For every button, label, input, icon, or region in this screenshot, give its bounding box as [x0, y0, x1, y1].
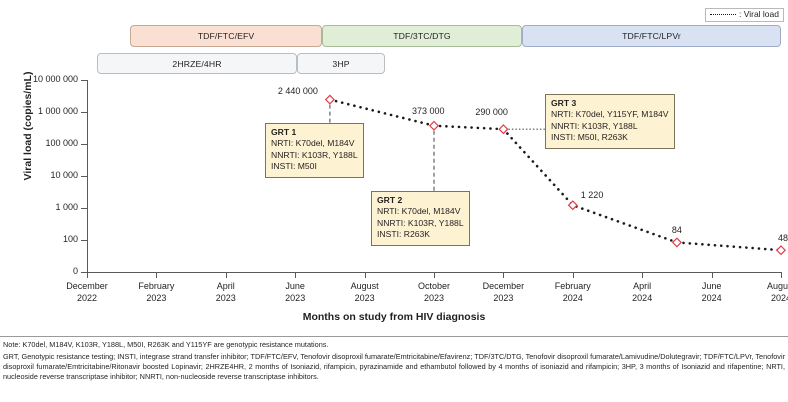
y-tick-label-4: 1 000: [0, 202, 78, 212]
annotation-grt-1: GRT 1 NRTI: K70del, M184V NNRTI: K103R, …: [265, 123, 364, 178]
grt-3-line-3: INSTI: M50I, R263K: [551, 132, 669, 143]
data-point-marker-3: [569, 201, 577, 209]
x-tick-label-8: April2024: [606, 281, 678, 304]
footnote-divider: [0, 336, 788, 337]
x-tick-6: [503, 272, 504, 278]
y-tick-3: [81, 176, 87, 177]
data-point-label-0: 2 440 000: [278, 86, 318, 96]
x-tick-label-3: June2023: [259, 281, 331, 304]
y-axis-title: Viral load (copies/mL): [22, 36, 34, 216]
grt-3-title: GRT 3: [551, 98, 669, 109]
y-tick-label-5: 100: [0, 234, 78, 244]
legend-label-viral-load: : Viral load: [739, 10, 779, 19]
x-tick-0: [87, 272, 88, 278]
art-regimen-label-1: TDF/FTC/EFV: [198, 31, 255, 41]
tb-regimen-label-2: 3HP: [332, 59, 349, 69]
x-tick-label-0: December2022: [51, 281, 123, 304]
y-tick-label-6: 0: [0, 266, 78, 276]
x-tick-label-7: February2024: [537, 281, 609, 304]
y-tick-4: [81, 208, 87, 209]
x-axis-title: Months on study from HIV diagnosis: [0, 311, 788, 323]
y-tick-0: [81, 80, 87, 81]
footnote-note: Note: K70del, M184V, K103R, Y188L, M50I,…: [3, 340, 785, 350]
art-regimen-label-3: TDF/FTC/LPVr: [622, 31, 681, 41]
data-point-label-2: 290 000: [475, 107, 508, 117]
y-tick-label-3: 10 000: [0, 170, 78, 180]
x-tick-1: [156, 272, 157, 278]
data-point-marker-1: [430, 122, 438, 130]
grt-3-line-2: NNRTI: K103R, Y188L: [551, 121, 669, 132]
grt-2-line-2: NNRTI: K103R, Y188L: [377, 218, 464, 229]
x-tick-10: [781, 272, 782, 278]
x-tick-label-10: August2024: [745, 281, 788, 304]
tb-regimen-bar-3hp: 3HP: [297, 53, 385, 74]
data-point-label-1: 373 000: [412, 106, 445, 116]
y-tick-label-1: 1 000 000: [0, 106, 78, 116]
x-tick-label-6: December2023: [467, 281, 539, 304]
grt-1-line-2: NNRTI: K103R, Y188L: [271, 150, 358, 161]
x-tick-label-4: August2023: [329, 281, 401, 304]
x-tick-4: [365, 272, 366, 278]
annotation-grt-3: GRT 3 NRTI: K70del, Y115YF, M184V NNRTI:…: [545, 94, 675, 149]
data-point-label-5: 48: [778, 233, 788, 243]
footnote-abbreviations: GRT, Genotypic resistance testing; INSTI…: [3, 352, 785, 382]
chart-legend: : Viral load: [705, 8, 784, 22]
x-tick-label-5: October2023: [398, 281, 470, 304]
y-axis-line: [87, 80, 88, 272]
x-tick-label-1: February2023: [120, 281, 192, 304]
y-tick-1: [81, 112, 87, 113]
art-regimen-bar-tdf-ftc-lpvr: TDF/FTC/LPVr: [522, 25, 781, 47]
x-tick-5: [434, 272, 435, 278]
y-tick-label-2: 100 000: [0, 138, 78, 148]
x-tick-2: [226, 272, 227, 278]
grt-1-line-3: INSTI: M50I: [271, 161, 358, 172]
art-regimen-bar-tdf-ftc-efv: TDF/FTC/EFV: [130, 25, 322, 47]
grt-2-title: GRT 2: [377, 195, 464, 206]
data-point-label-4: 84: [672, 225, 682, 235]
x-tick-label-9: June2024: [676, 281, 748, 304]
x-tick-8: [642, 272, 643, 278]
y-tick-2: [81, 144, 87, 145]
grt-2-line-1: NRTI: K70del, M184V: [377, 206, 464, 217]
y-tick-5: [81, 240, 87, 241]
data-point-label-3: 1 220: [581, 190, 604, 200]
tb-regimen-bar-2hrze-4hr: 2HRZE/4HR: [97, 53, 297, 74]
grt-1-line-1: NRTI: K70del, M184V: [271, 138, 358, 149]
grt-1-title: GRT 1: [271, 127, 358, 138]
art-regimen-bar-tdf-3tc-dtg: TDF/3TC/DTG: [322, 25, 522, 47]
data-point-marker-0: [326, 95, 334, 103]
footnotes: Note: K70del, M184V, K103R, Y188L, M50I,…: [3, 340, 785, 382]
grt-2-line-3: INSTI: R263K: [377, 229, 464, 240]
data-point-marker-4: [673, 238, 681, 246]
art-regimen-label-2: TDF/3TC/DTG: [393, 31, 451, 41]
data-point-marker-5: [777, 246, 785, 254]
x-tick-label-2: April2023: [190, 281, 262, 304]
x-tick-3: [295, 272, 296, 278]
annotation-grt-2: GRT 2 NRTI: K70del, M184V NNRTI: K103R, …: [371, 191, 470, 246]
grt-3-line-1: NRTI: K70del, Y115YF, M184V: [551, 109, 669, 120]
data-point-marker-2: [499, 125, 507, 133]
y-tick-label-0: 10 000 000: [0, 74, 78, 84]
x-tick-7: [573, 272, 574, 278]
viral-load-figure: : Viral load TDF/FTC/EFV TDF/3TC/DTG TDF…: [0, 0, 788, 333]
x-tick-9: [712, 272, 713, 278]
tb-regimen-label-1: 2HRZE/4HR: [172, 59, 221, 69]
viral-load-line-icon: [710, 14, 736, 15]
